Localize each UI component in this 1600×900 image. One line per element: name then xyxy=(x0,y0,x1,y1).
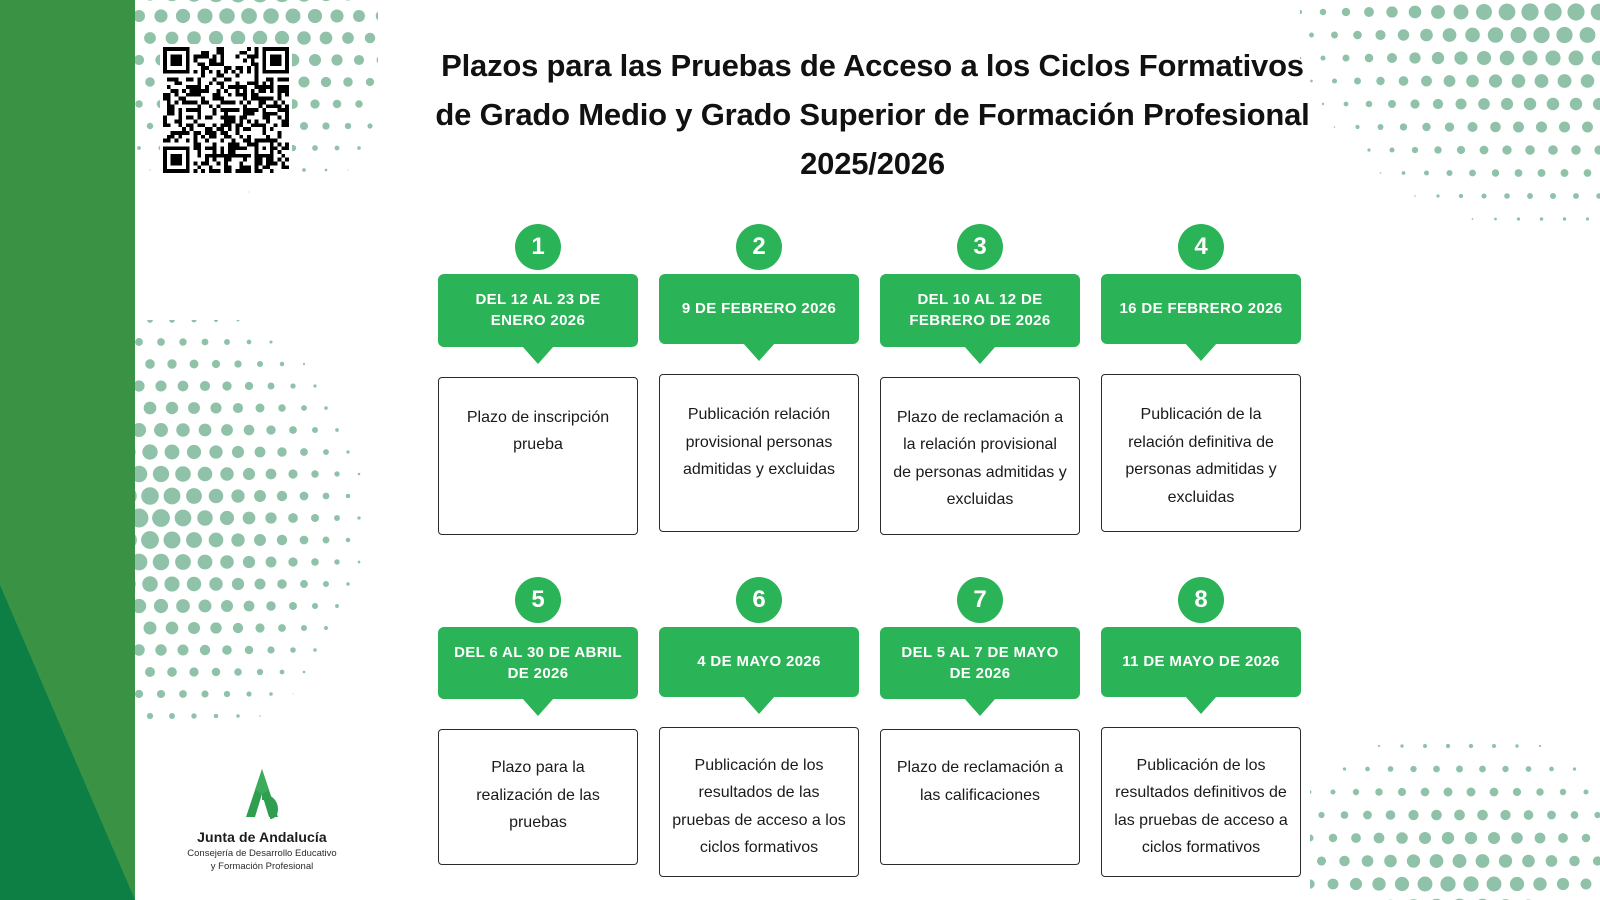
step-date-banner: 16 DE FEBRERO 2026 xyxy=(1101,274,1301,344)
halftone-dots-bottom-right xyxy=(1310,700,1600,900)
logo-subtitle: Consejería de Desarrollo Educativo y For… xyxy=(152,848,372,874)
step-date-banner: DEL 5 AL 7 DE MAYO DE 2026 xyxy=(880,627,1080,700)
timeline-grid: 1 DEL 12 AL 23 DE ENERO 2026 Plazo de in… xyxy=(438,224,1318,877)
qr-code-icon[interactable] xyxy=(160,44,292,176)
step-date-banner: 4 DE MAYO 2026 xyxy=(659,627,859,697)
halftone-dots-left xyxy=(128,320,368,720)
step-number-badge: 8 xyxy=(1178,577,1224,623)
step-number-badge: 1 xyxy=(515,224,561,270)
timeline-step-4: 4 16 DE FEBRERO 2026 Publicación de la r… xyxy=(1101,224,1301,532)
step-description-box: Plazo para la realización de las pruebas xyxy=(438,729,638,865)
step-date-banner: DEL 10 AL 12 DE FEBRERO DE 2026 xyxy=(880,274,1080,347)
timeline-step-7: 7 DEL 5 AL 7 DE MAYO DE 2026 Plazo de re… xyxy=(880,577,1080,866)
page-title-line-2: de Grado Medio y Grado Superior de Forma… xyxy=(330,91,1415,140)
step-number-badge: 4 xyxy=(1178,224,1224,270)
page-title-line-3: 2025/2026 xyxy=(330,140,1415,189)
step-description-box: Publicación relación provisional persona… xyxy=(659,374,859,532)
step-description-box: Plazo de reclamación a las calificacione… xyxy=(880,729,1080,865)
step-number-badge: 3 xyxy=(957,224,1003,270)
logo-subtitle-line-2: y Formación Profesional xyxy=(152,861,372,874)
timeline-step-8: 8 11 DE MAYO DE 2026 Publicación de los … xyxy=(1101,577,1301,877)
logo-title: Junta de Andalucía xyxy=(152,829,372,846)
timeline-step-6: 6 4 DE MAYO 2026 Publicación de los resu… xyxy=(659,577,859,877)
logo-subtitle-line-1: Consejería de Desarrollo Educativo xyxy=(152,848,372,861)
step-description-box: Plazo de inscripción prueba xyxy=(438,377,638,535)
timeline-step-2: 2 9 DE FEBRERO 2026 Publicación relación… xyxy=(659,224,859,532)
step-date-banner: 11 DE MAYO DE 2026 xyxy=(1101,627,1301,697)
step-date-banner: DEL 6 AL 30 DE ABRIL DE 2026 xyxy=(438,627,638,700)
step-description-box: Plazo de reclamación a la relación provi… xyxy=(880,377,1080,535)
page-title: Plazos para las Pruebas de Acceso a los … xyxy=(330,42,1415,189)
step-description-box: Publicación de los resultados definitivo… xyxy=(1101,727,1301,877)
timeline-step-5: 5 DEL 6 AL 30 DE ABRIL DE 2026 Plazo par… xyxy=(438,577,638,866)
junta-andalucia-logo: Junta de Andalucía Consejería de Desarro… xyxy=(152,767,372,874)
step-description-box: Publicación de la relación definitiva de… xyxy=(1101,374,1301,532)
step-date-banner: 9 DE FEBRERO 2026 xyxy=(659,274,859,344)
timeline-row-2: 5 DEL 6 AL 30 DE ABRIL DE 2026 Plazo par… xyxy=(438,577,1318,877)
timeline-row-1: 1 DEL 12 AL 23 DE ENERO 2026 Plazo de in… xyxy=(438,224,1318,535)
timeline-step-1: 1 DEL 12 AL 23 DE ENERO 2026 Plazo de in… xyxy=(438,224,638,535)
step-description-box: Publicación de los resultados de las pru… xyxy=(659,727,859,877)
andalucia-a-icon xyxy=(231,767,293,825)
step-number-badge: 2 xyxy=(736,224,782,270)
step-date-banner: DEL 12 AL 23 DE ENERO 2026 xyxy=(438,274,638,347)
page-title-line-1: Plazos para las Pruebas de Acceso a los … xyxy=(330,42,1415,91)
infographic-poster: Plazos para las Pruebas de Acceso a los … xyxy=(0,0,1600,900)
step-number-badge: 5 xyxy=(515,577,561,623)
step-number-badge: 7 xyxy=(957,577,1003,623)
step-number-badge: 6 xyxy=(736,577,782,623)
timeline-step-3: 3 DEL 10 AL 12 DE FEBRERO DE 2026 Plazo … xyxy=(880,224,1080,535)
